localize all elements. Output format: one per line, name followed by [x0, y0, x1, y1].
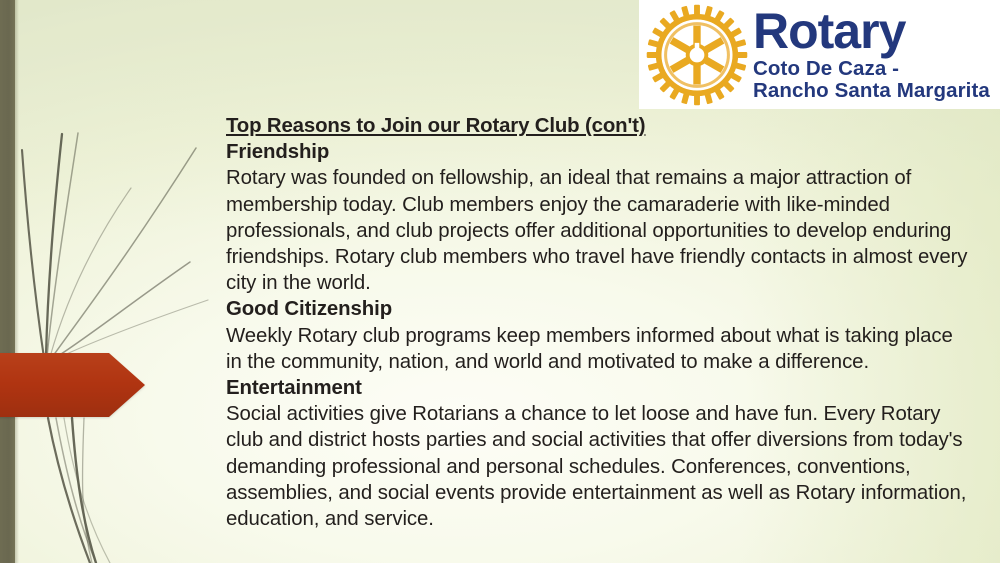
club-name-line-1: Coto De Caza - — [753, 59, 1000, 80]
section-heading-entertainment: Entertainment — [226, 375, 968, 401]
olive-side-stripe — [0, 0, 15, 563]
slide-title: Top Reasons to Join our Rotary Club (con… — [226, 113, 968, 139]
right-arrow-banner — [0, 351, 146, 419]
presentation-slide: Rotary Coto De Caza - Rancho Santa Marga… — [0, 0, 1000, 563]
club-name-line-2: Rancho Santa Margarita — [753, 81, 1000, 102]
section-heading-good-citizenship: Good Citizenship — [226, 296, 968, 322]
section-heading-friendship: Friendship — [226, 139, 968, 165]
olive-side-stripe-edge — [15, 0, 19, 563]
section-body-entertainment: Social activities give Rotarians a chanc… — [226, 401, 968, 532]
section-body-friendship: Rotary was founded on fellowship, an ide… — [226, 165, 968, 296]
rotary-wordmark: Rotary — [753, 6, 1000, 56]
slide-content: Top Reasons to Join our Rotary Club (con… — [226, 113, 968, 532]
rotary-wheel-icon — [643, 3, 751, 107]
rotary-logo: Rotary Coto De Caza - Rancho Santa Marga… — [639, 0, 1000, 109]
section-body-good-citizenship: Weekly Rotary club programs keep members… — [226, 323, 968, 375]
